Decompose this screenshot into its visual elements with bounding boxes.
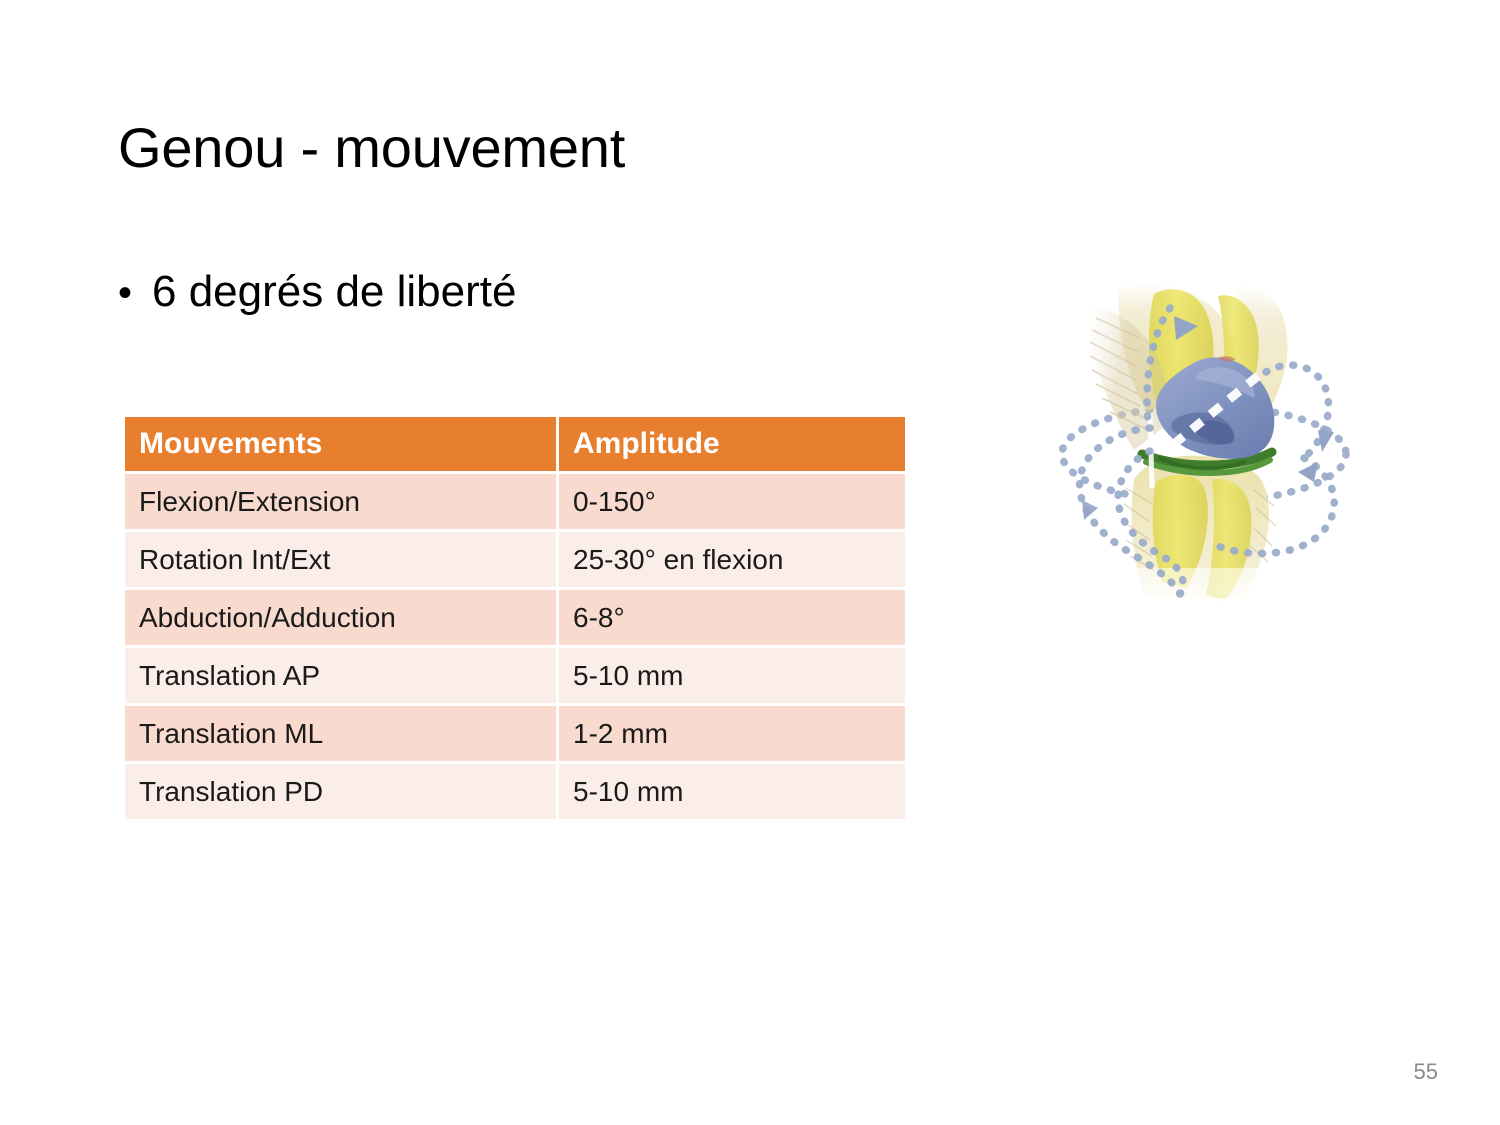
- table-row: Rotation Int/Ext 25-30° en flexion: [125, 532, 905, 587]
- bullet-list-item: • 6 degrés de liberté: [118, 268, 516, 316]
- slide: Genou - mouvement • 6 degrés de liberté …: [0, 0, 1500, 1125]
- column-header-mouvements: Mouvements: [125, 417, 556, 471]
- cell-amplitude: 6-8°: [559, 590, 905, 645]
- page-number: 55: [1414, 1059, 1438, 1085]
- cell-amplitude: 25-30° en flexion: [559, 532, 905, 587]
- page-title: Genou - mouvement: [118, 116, 1218, 180]
- table-row: Translation AP 5-10 mm: [125, 648, 905, 703]
- table-row: Abduction/Adduction 6-8°: [125, 590, 905, 645]
- table-header-row: Mouvements Amplitude: [125, 417, 905, 471]
- cell-amplitude: 0-150°: [559, 474, 905, 529]
- bullet-point-icon: •: [118, 273, 152, 313]
- column-header-amplitude: Amplitude: [559, 417, 905, 471]
- knee-anatomy-illustration: [1022, 282, 1382, 642]
- cell-mouvement: Translation PD: [125, 764, 556, 819]
- table-row: Flexion/Extension 0-150°: [125, 474, 905, 529]
- cell-mouvement: Translation AP: [125, 648, 556, 703]
- cell-amplitude: 5-10 mm: [559, 648, 905, 703]
- cell-mouvement: Abduction/Adduction: [125, 590, 556, 645]
- table-body: Flexion/Extension 0-150° Rotation Int/Ex…: [125, 474, 905, 819]
- cell-mouvement: Flexion/Extension: [125, 474, 556, 529]
- movements-amplitude-table: Mouvements Amplitude Flexion/Extension 0…: [122, 414, 908, 822]
- table-header: Mouvements Amplitude: [125, 417, 905, 471]
- cell-mouvement: Rotation Int/Ext: [125, 532, 556, 587]
- cell-amplitude: 1-2 mm: [559, 706, 905, 761]
- table-row: Translation ML 1-2 mm: [125, 706, 905, 761]
- bullet-item-label: 6 degrés de liberté: [152, 268, 516, 316]
- cell-amplitude: 5-10 mm: [559, 764, 905, 819]
- cell-mouvement: Translation ML: [125, 706, 556, 761]
- table-row: Translation PD 5-10 mm: [125, 764, 905, 819]
